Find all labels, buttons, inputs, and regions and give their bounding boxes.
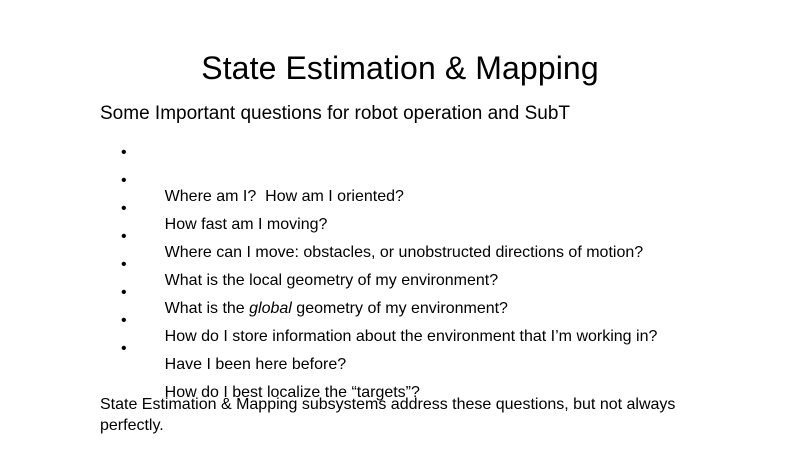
slide-canvas: State Estimation & Mapping Some Importan… <box>0 0 800 450</box>
list-item: • How fast am I moving? <box>100 170 760 198</box>
bullet-marker-icon: • <box>121 282 127 304</box>
bullet-marker-icon: • <box>121 338 127 360</box>
bullet-marker-icon: • <box>121 198 127 220</box>
bullet-marker-icon: • <box>121 254 127 276</box>
list-item: • How do I store information about the e… <box>100 282 760 310</box>
list-item: • What is the global geometry of my envi… <box>100 254 760 282</box>
list-item: • What is the local geometry of my envir… <box>100 226 760 254</box>
bullet-marker-icon: • <box>121 170 127 192</box>
list-item: • Where can I move: obstacles, or unobst… <box>100 198 760 226</box>
closing-statement: State Estimation & Mapping subsystems ad… <box>100 394 696 436</box>
page-title: State Estimation & Mapping <box>0 49 800 87</box>
list-item: • Have I been here before? <box>100 310 760 338</box>
list-item: • How do I best localize the “targets”? <box>100 338 760 366</box>
slide-subtitle: Some Important questions for robot opera… <box>100 102 570 126</box>
bullet-marker-icon: • <box>121 310 127 332</box>
question-bullet-list: • Where am I? How am I oriented? • How f… <box>100 142 760 366</box>
list-item: • Where am I? How am I oriented? <box>100 142 760 170</box>
bullet-marker-icon: • <box>121 142 127 164</box>
bullet-marker-icon: • <box>121 226 127 248</box>
